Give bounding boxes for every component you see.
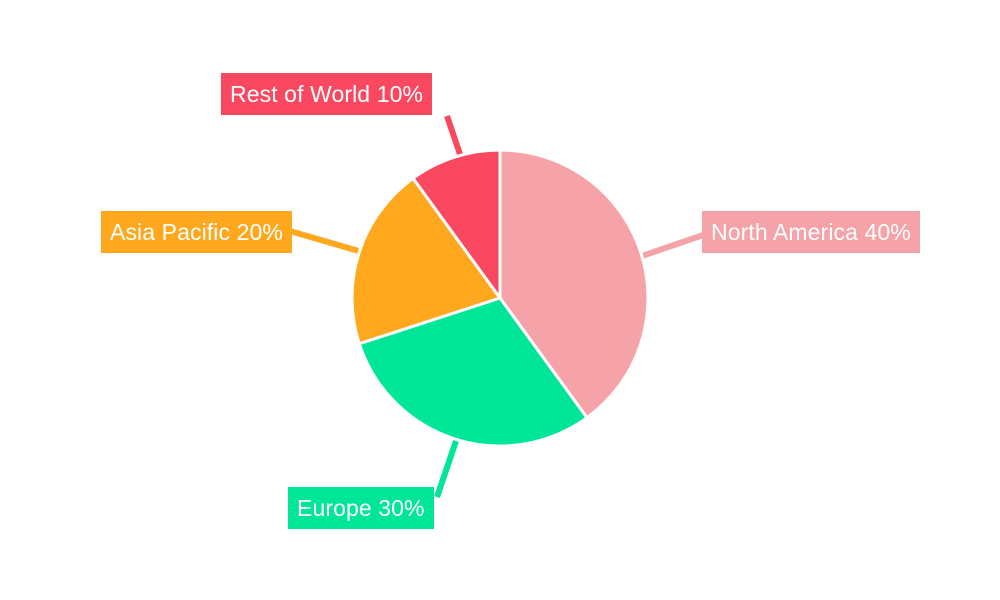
pie-slices bbox=[352, 150, 648, 446]
pie-label-europe[interactable]: Europe 30% bbox=[288, 487, 434, 529]
leader-line-asia-pacific bbox=[290, 231, 369, 254]
pie-chart-canvas bbox=[0, 0, 1000, 600]
pie-label-rest-of-world-text: Rest of World 10% bbox=[230, 83, 423, 106]
pie-label-north-america[interactable]: North America 40% bbox=[702, 211, 920, 253]
pie-label-europe-text: Europe 30% bbox=[297, 497, 425, 520]
pie-label-rest-of-world[interactable]: Rest of World 10% bbox=[221, 73, 432, 115]
pie-label-asia-pacific-text: Asia Pacific 20% bbox=[110, 221, 283, 244]
pie-chart-figure: Rest of World 10% Asia Pacific 20% North… bbox=[0, 0, 1000, 600]
pie-label-asia-pacific[interactable]: Asia Pacific 20% bbox=[101, 211, 292, 253]
pie-label-north-america-text: North America 40% bbox=[711, 221, 911, 244]
leader-line-europe bbox=[437, 441, 456, 497]
